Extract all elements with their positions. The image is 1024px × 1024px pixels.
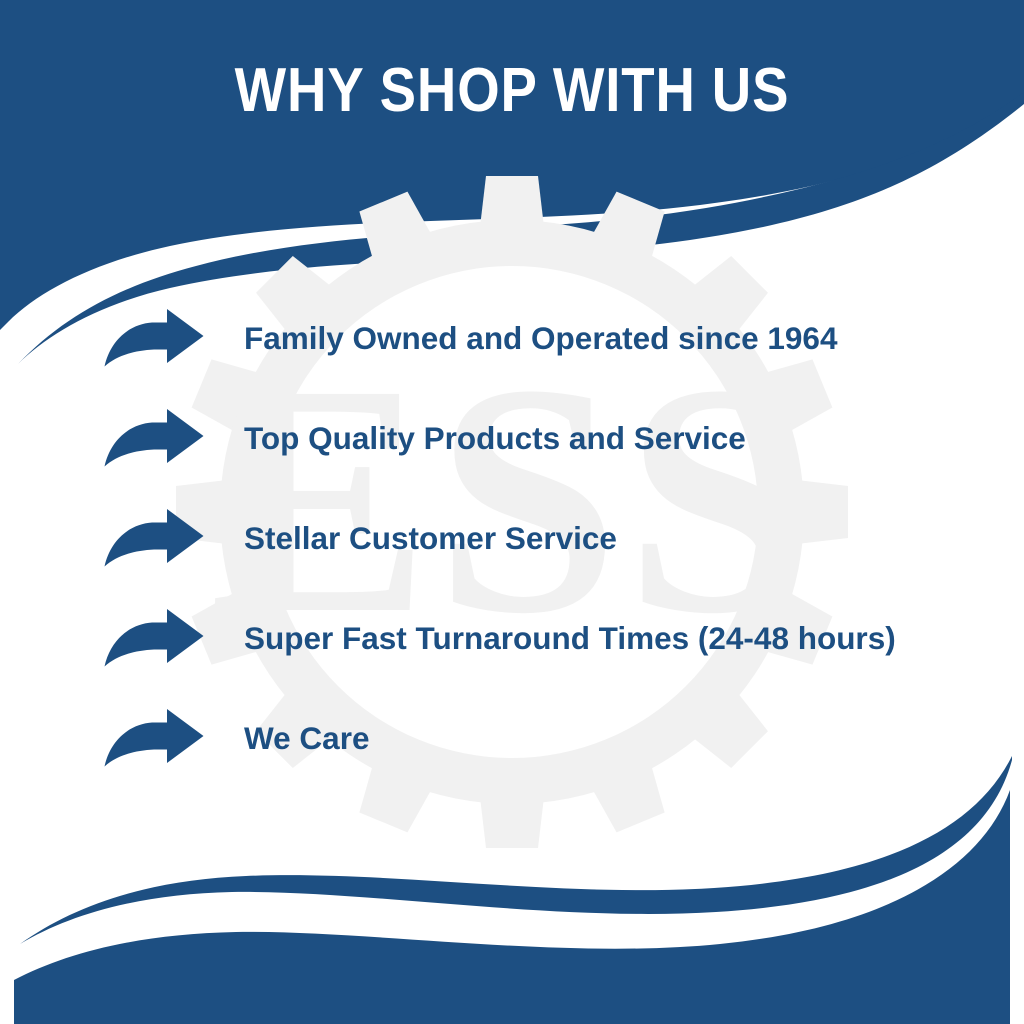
list-item-label: Family Owned and Operated since 1964 [244,320,837,356]
list-item-label: Super Fast Turnaround Times (24-48 hours… [244,620,896,656]
list-item: Super Fast Turnaround Times (24-48 hours… [104,588,984,688]
list-item-label: Top Quality Products and Service [244,420,746,456]
why-shop-with-us-banner: ESS WHY SHOP WITH US Family Owned and Op… [0,0,1024,1024]
list-item: Top Quality Products and Service [104,388,984,488]
list-item: Stellar Customer Service [104,488,984,588]
list-item: We Care [104,688,984,788]
list-item-label: We Care [244,720,369,756]
curved-right-arrow-icon [104,709,204,767]
curved-right-arrow-icon [104,309,204,367]
list-item: Family Owned and Operated since 1964 [104,288,984,388]
benefits-list: Family Owned and Operated since 1964 Top… [104,288,984,788]
page-title: WHY SHOP WITH US [61,60,962,122]
list-item-label: Stellar Customer Service [244,520,617,556]
curved-right-arrow-icon [104,409,204,467]
curved-right-arrow-icon [104,609,204,667]
curved-right-arrow-icon [104,509,204,567]
